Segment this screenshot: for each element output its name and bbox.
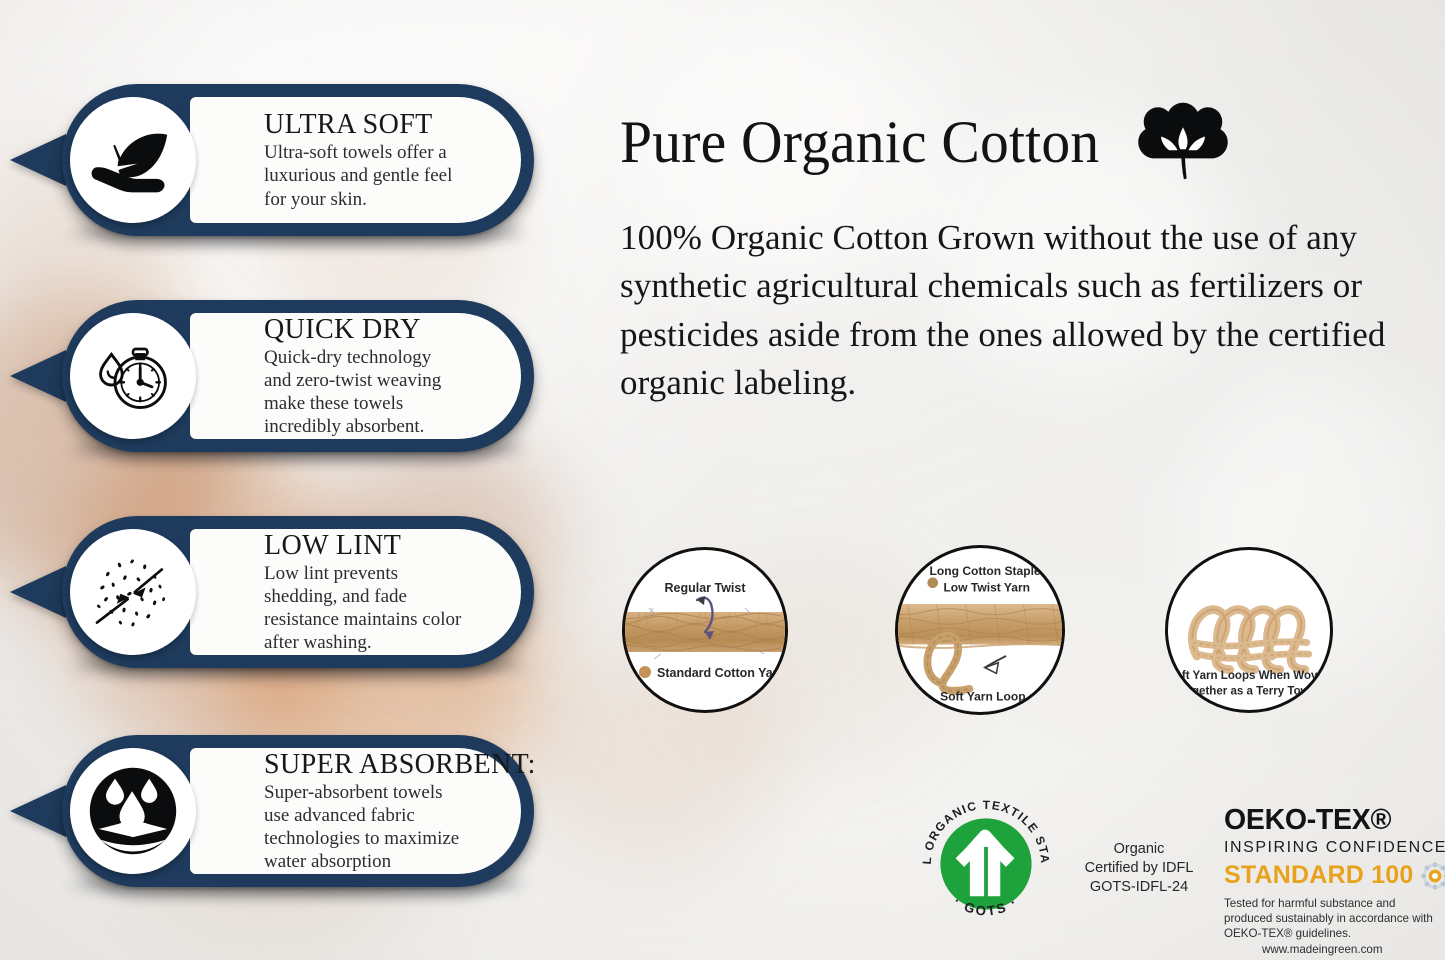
made-in-green-flower-icon (1420, 861, 1445, 891)
feature-description: Low lint prevents shedding, and fade res… (264, 562, 463, 655)
right-content-column: Pure Organic Cotton 100% Organic Cotton … (612, 0, 1445, 960)
gots-detail-line-2: Certified by IDFL (1064, 859, 1214, 878)
low-twist-yarn-diagram: Long Cotton Staple, Low Twist Yarn Soft … (895, 545, 1065, 715)
diagram-top-label-line1: Long Cotton Staple, (930, 564, 1044, 578)
gots-detail-line-1: Organic (1064, 840, 1214, 859)
card-pointer (10, 785, 66, 837)
card-text-panel: QUICK DRY Quick-dry technology and zero-… (190, 313, 521, 439)
diagram-top-label-line2: Low Twist Yarn (943, 580, 1030, 594)
feather-in-hand-icon (70, 97, 196, 223)
cotton-boll-icon (1137, 100, 1229, 184)
oeko-tex-fine-print: Tested for harmful substance and produce… (1224, 897, 1433, 941)
page-title: Pure Organic Cotton (620, 112, 1099, 172)
gots-detail-line-3: GOTS-IDFL-24 (1064, 878, 1214, 897)
oeko-tex-tagline: INSPIRING CONFIDENCE (1224, 840, 1445, 856)
water-drops-absorbing-fabric-icon (70, 748, 196, 874)
feature-card-ultra-soft[interactable]: ULTRA SOFT Ultra-soft towels offer a lux… (62, 84, 534, 236)
card-pointer (10, 350, 66, 402)
feature-description: Super-absorbent towels use advanced fabr… (264, 781, 463, 874)
feature-card-list: ULTRA SOFT Ultra-soft towels offer a lux… (0, 0, 600, 960)
oeko-tex-brand: OEKO-TEX® (1224, 806, 1445, 835)
feature-title: SUPER ABSORBENT: (264, 750, 463, 779)
gots-certification-detail: Organic Certified by IDFL GOTS-IDFL-24 (1064, 840, 1214, 897)
stopwatch-water-drop-icon (70, 313, 196, 439)
feature-card-low-lint[interactable]: LOW LINT Low lint prevents shedding, and… (62, 516, 534, 668)
oeko-tex-standard: STANDARD 100 (1224, 863, 1413, 888)
feature-title: QUICK DRY (264, 315, 463, 344)
diagram-bottom-label-line1: Soft Yarn Loops When Woven (1168, 670, 1330, 682)
hero-heading-row: Pure Organic Cotton (620, 100, 1229, 184)
feature-description: Quick-dry technology and zero-twist weav… (264, 346, 463, 439)
regular-twist-diagram: Regular Twist Standard Cotton Yarn (622, 547, 788, 713)
card-pointer (10, 566, 66, 618)
oeko-tex-url: www.madeingreen.com (1262, 943, 1383, 956)
yarn-diagram-group: Regular Twist Standard Cotton Yarn (612, 545, 1445, 725)
terry-towel-loops-diagram: Soft Yarn Loops When Woven Together as a… (1165, 547, 1333, 713)
certification-row: GLOBAL ORGANIC TEXTILE STANDARD · GOTS ·… (612, 780, 1445, 960)
diagram-bottom-label: Soft Yarn Loop (940, 689, 1025, 703)
card-text-panel: SUPER ABSORBENT: Super-absorbent towels … (190, 748, 521, 874)
card-text-panel: ULTRA SOFT Ultra-soft towels offer a lux… (190, 97, 521, 223)
oeko-tex-logo: OEKO-TEX® INSPIRING CONFIDENCE STANDARD … (1224, 806, 1445, 957)
gots-logo: GLOBAL ORGANIC TEXTILE STANDARD · GOTS · (910, 788, 1062, 940)
feature-card-super-absorbent[interactable]: SUPER ABSORBENT: Super-absorbent towels … (62, 735, 534, 887)
diagram-bottom-label: Standard Cotton Yarn (657, 666, 785, 680)
feature-title: ULTRA SOFT (264, 110, 463, 139)
card-text-panel: LOW LINT Low lint prevents shedding, and… (190, 529, 521, 655)
card-pointer (10, 134, 66, 186)
lint-particles-arrows-icon (70, 529, 196, 655)
diagram-top-label: Regular Twist (664, 581, 746, 595)
feature-card-quick-dry[interactable]: QUICK DRY Quick-dry technology and zero-… (62, 300, 534, 452)
hero-description: 100% Organic Cotton Grown without the us… (620, 214, 1432, 407)
feature-title: LOW LINT (264, 531, 463, 560)
feature-description: Ultra-soft towels offer a luxurious and … (264, 141, 463, 211)
diagram-bottom-label-line2: Together as a Terry Towel (1179, 686, 1320, 698)
